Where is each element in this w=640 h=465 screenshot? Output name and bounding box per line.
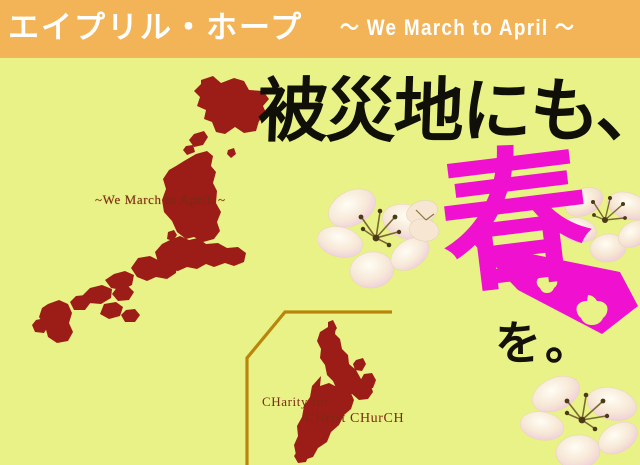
header-bar: エイプリル・ホープ 〜 We March to April 〜 [0,0,640,58]
japan-map-caption: ~We March to ApriL ~ [95,192,226,208]
headline-tail-text: を。 [495,318,595,368]
poster-canvas: エイプリル・ホープ 〜 We March to April 〜 [0,0,640,465]
new-zealand-map-icon [268,318,418,463]
cherry-blossom-icon [520,368,640,465]
nz-caption-line2: CHrist CHurCH [305,411,404,427]
headline-accent-haru: 春 [432,137,599,304]
poster-subtitle: 〜 We March to April 〜 [340,12,575,44]
nz-caption-line1: CHarity for [262,394,329,410]
poster-title: エイプリル・ホープ [8,5,303,51]
headline-main-text: 被災地にも、 [257,72,640,150]
